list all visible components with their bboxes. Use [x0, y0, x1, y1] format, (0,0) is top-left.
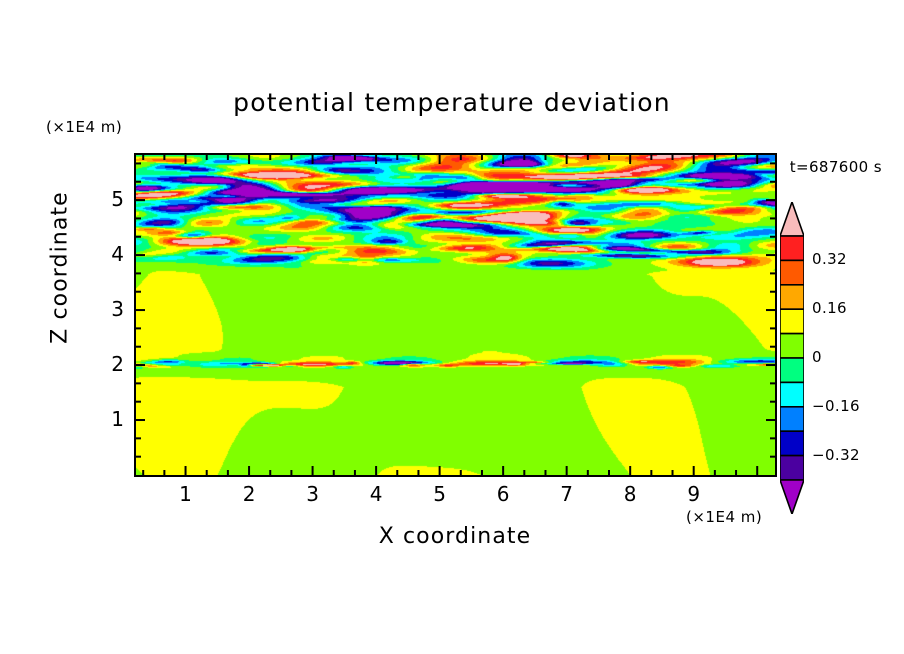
x-tick-label: 9 — [679, 482, 709, 506]
colorbar-band — [780, 236, 804, 260]
colorbar-band-overflow-high — [780, 202, 804, 236]
colorbar-band — [780, 382, 804, 406]
colorbar-swatches — [780, 202, 804, 514]
colorbar-band — [780, 285, 804, 309]
colorbar-tick-label: 0.16 — [812, 299, 847, 317]
colorbar-band — [780, 358, 804, 382]
colorbar-band — [780, 456, 804, 480]
colorbar-band — [780, 334, 804, 358]
page-title: potential temperature deviation — [0, 88, 904, 117]
x-tick-label: 4 — [361, 482, 391, 506]
colorbar-band-overflow-low — [780, 480, 804, 514]
y-axis-unit-annotation: (×1E4 m) — [46, 118, 122, 136]
y-tick-label: 1 — [94, 407, 124, 431]
colorbar-band — [780, 309, 804, 333]
x-tick-label: 5 — [425, 482, 455, 506]
x-tick-label: 1 — [171, 482, 201, 506]
colorbar-band — [780, 407, 804, 431]
colorbar-tick-label: −0.16 — [812, 397, 860, 415]
x-axis-title: X coordinate — [0, 524, 904, 549]
colorbar-band — [780, 431, 804, 455]
y-tick-label: 4 — [94, 242, 124, 266]
colorbar — [780, 202, 804, 514]
y-axis-title: Z coordinate — [48, 178, 73, 358]
x-tick-label: 2 — [234, 482, 264, 506]
y-tick-label: 5 — [94, 187, 124, 211]
y-tick-label: 2 — [94, 352, 124, 376]
contour-field-plot — [136, 155, 775, 475]
x-tick-label: 6 — [488, 482, 518, 506]
x-tick-label: 7 — [552, 482, 582, 506]
x-tick-label: 3 — [298, 482, 328, 506]
x-tick-label: 8 — [615, 482, 645, 506]
colorbar-band — [780, 260, 804, 284]
time-label: t=687600 s — [790, 158, 882, 176]
colorbar-tick-label: −0.32 — [812, 446, 860, 464]
colorbar-tick-label: 0 — [812, 348, 822, 366]
y-tick-label: 3 — [94, 297, 124, 321]
colorbar-tick-label: 0.32 — [812, 250, 847, 268]
